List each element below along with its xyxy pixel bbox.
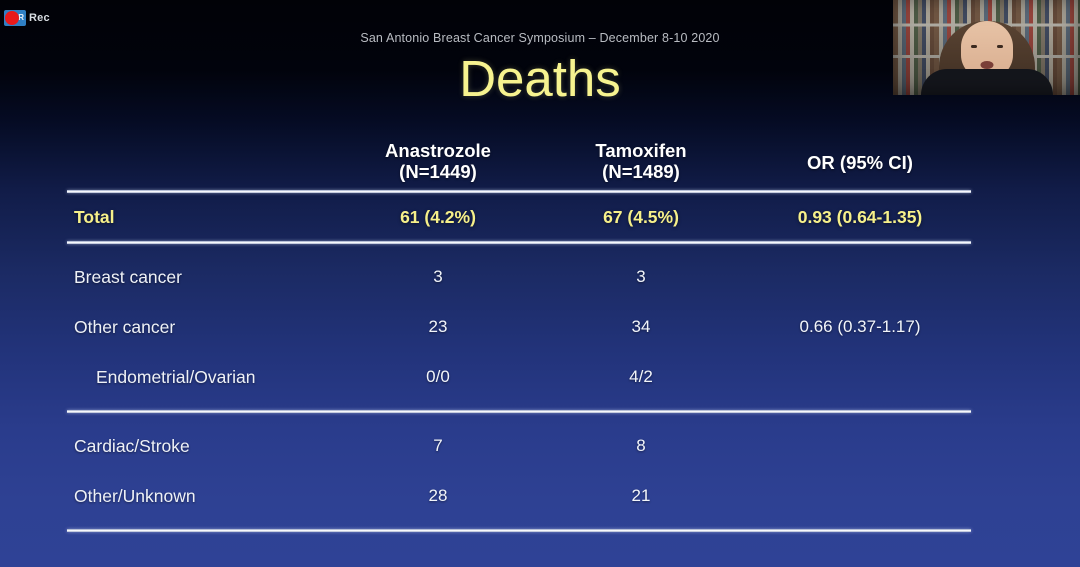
- row-tamoxifen-cardiac-stroke: 8: [533, 436, 749, 456]
- row-anastrozole-breast-cancer: 3: [343, 267, 533, 287]
- table-header-row: Anastrozole (N=1449) Tamoxifen (N=1489) …: [67, 140, 971, 190]
- row-label-other-unknown: Other/Unknown: [67, 486, 343, 506]
- header-anastrozole-n: (N=1449): [343, 161, 533, 182]
- row-tamoxifen-other-cancer: 34: [533, 317, 749, 337]
- total-or: 0.93 (0.64-1.35): [749, 207, 971, 227]
- header-cell-tamoxifen: Tamoxifen (N=1489): [533, 140, 749, 182]
- header-cell-or: OR (95% CI): [749, 140, 971, 173]
- spacer-before-bottom-rule: [67, 521, 971, 529]
- table-row: Breast cancer 3 3: [67, 252, 971, 302]
- row-label-other-cancer: Other cancer: [67, 317, 343, 337]
- row-anastrozole-endometrial-ovarian: 0/0: [343, 367, 533, 387]
- row-anastrozole-cardiac-stroke: 7: [343, 436, 533, 456]
- header-tamoxifen-label: Tamoxifen: [533, 140, 749, 161]
- total-label: Total: [67, 207, 343, 227]
- table-row-total: Total 61 (4.2%) 67 (4.5%) 0.93 (0.64-1.3…: [67, 193, 971, 241]
- header-cell-anastrozole: Anastrozole (N=1449): [343, 140, 533, 182]
- presentation-slide: R Rec San Antonio Breast Cancer Symposiu…: [0, 0, 1080, 567]
- header-tamoxifen-n: (N=1489): [533, 161, 749, 182]
- header-or-label: OR (95% CI): [749, 152, 971, 173]
- row-tamoxifen-other-unknown: 21: [533, 486, 749, 506]
- table-row: Cardiac/Stroke 7 8: [67, 421, 971, 471]
- recording-indicator: R Rec: [4, 10, 50, 26]
- record-badge-letter: R: [18, 14, 24, 22]
- deaths-table: Anastrozole (N=1449) Tamoxifen (N=1489) …: [67, 140, 971, 532]
- spacer-after-total-rule: [67, 244, 971, 252]
- row-label-endometrial-ovarian: Endometrial/Ovarian: [67, 367, 343, 387]
- total-anastrozole: 61 (4.2%): [343, 207, 533, 227]
- row-tamoxifen-breast-cancer: 3: [533, 267, 749, 287]
- table-rule-bottom: [67, 529, 971, 532]
- presenter-video-thumbnail[interactable]: [893, 0, 1080, 95]
- row-label-breast-cancer: Breast cancer: [67, 267, 343, 287]
- record-dot-icon: [5, 11, 19, 25]
- table-row: Other cancer 23 34 0.66 (0.37-1.17): [67, 302, 971, 352]
- row-anastrozole-other-cancer: 23: [343, 317, 533, 337]
- row-label-cardiac-stroke: Cardiac/Stroke: [67, 436, 343, 456]
- row-or-other-cancer: 0.66 (0.37-1.17): [749, 317, 971, 337]
- row-anastrozole-other-unknown: 28: [343, 486, 533, 506]
- video-vignette: [893, 0, 1080, 95]
- record-chip: R: [4, 10, 26, 26]
- row-tamoxifen-endometrial-ovarian: 4/2: [533, 367, 749, 387]
- table-row: Endometrial/Ovarian 0/0 4/2: [67, 352, 971, 402]
- total-tamoxifen: 67 (4.5%): [533, 207, 749, 227]
- spacer-after-middle-rule: [67, 413, 971, 421]
- table-row: Other/Unknown 28 21: [67, 471, 971, 521]
- spacer-before-middle-rule: [67, 402, 971, 410]
- recording-label: Rec: [29, 13, 50, 24]
- header-anastrozole-label: Anastrozole: [343, 140, 533, 161]
